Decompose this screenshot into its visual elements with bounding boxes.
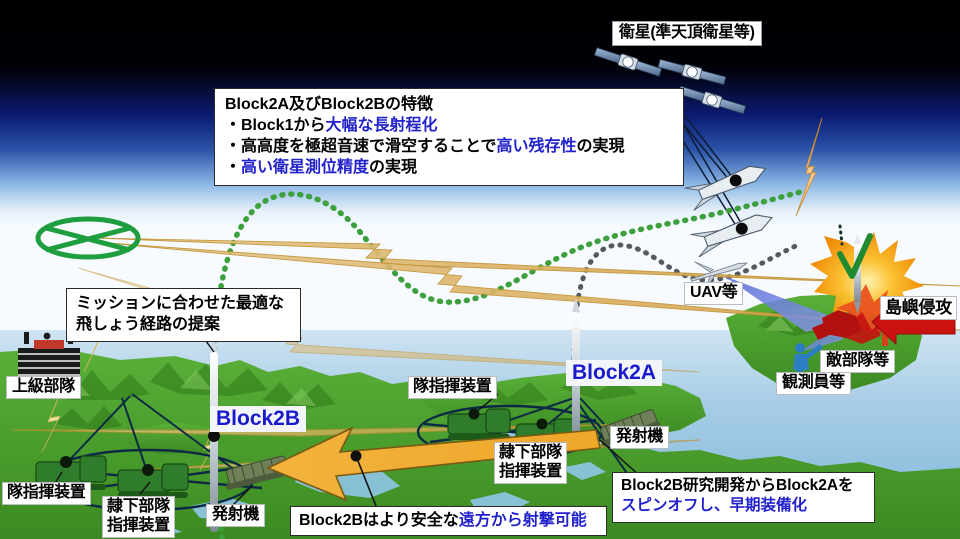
standoff-part-1: Block2Bはより安全な <box>299 512 459 529</box>
label-island-invasion: 島嶼侵攻 <box>880 296 957 320</box>
features-line-1: ・Block1から大幅な長射程化 <box>225 115 675 136</box>
mission-route-line-1: ミッションに合わせた最適な <box>76 293 292 314</box>
standoff-part-2: 遠方から射撃可能 <box>459 512 587 529</box>
label-sub-unit-command-left: 隷下部隊 指揮装置 <box>102 496 175 538</box>
features-line-3: ・高い衛星測位精度の実現 <box>225 157 675 178</box>
spinoff-callout: Block2B研究開発からBlock2Aを スピンオフし、早期装備化 <box>612 472 875 523</box>
label-satellite: 衛星(準天頂衛星等) <box>612 21 762 46</box>
standoff-callout: Block2Bはより安全な遠方から射撃可能 <box>290 506 607 536</box>
label-higher-unit: 上級部隊 <box>6 376 81 399</box>
label-launcher-right: 発射機 <box>610 426 669 449</box>
label-enemy-force: 敵部隊等 <box>820 350 895 373</box>
label-unit-command-right: 隊指揮装置 <box>408 376 497 399</box>
label-observer: 観測員等 <box>776 372 851 395</box>
features-line-2: ・高高度を極超音速で滑空することで高い残存性の実現 <box>225 136 675 157</box>
spinoff-line-2: スピンオフし、早期装備化 <box>621 496 867 516</box>
mission-route-line-2: 飛しょう経路の提案 <box>76 314 292 335</box>
label-launcher-left: 発射機 <box>206 504 265 527</box>
features-callout: Block2A及びBlock2Bの特徴 ・Block1から大幅な長射程化 ・高高… <box>214 88 684 186</box>
label-unit-command-left: 隊指揮装置 <box>2 482 91 505</box>
features-heading: Block2A及びBlock2Bの特徴 <box>225 94 675 115</box>
scene-artwork <box>0 0 960 539</box>
diagram-canvas: 衛星(準天頂衛星等) Block2A及びBlock2Bの特徴 ・Block1から… <box>0 0 960 539</box>
label-block2a: Block2A <box>566 360 662 386</box>
label-block2b: Block2B <box>210 406 306 432</box>
label-sub-unit-command-right: 隷下部隊 指揮装置 <box>494 442 567 484</box>
spinoff-line-1: Block2B研究開発からBlock2Aを <box>621 476 867 496</box>
label-uav: UAV等 <box>684 282 743 305</box>
mission-route-callout: ミッションに合わせた最適な 飛しょう経路の提案 <box>66 288 301 342</box>
